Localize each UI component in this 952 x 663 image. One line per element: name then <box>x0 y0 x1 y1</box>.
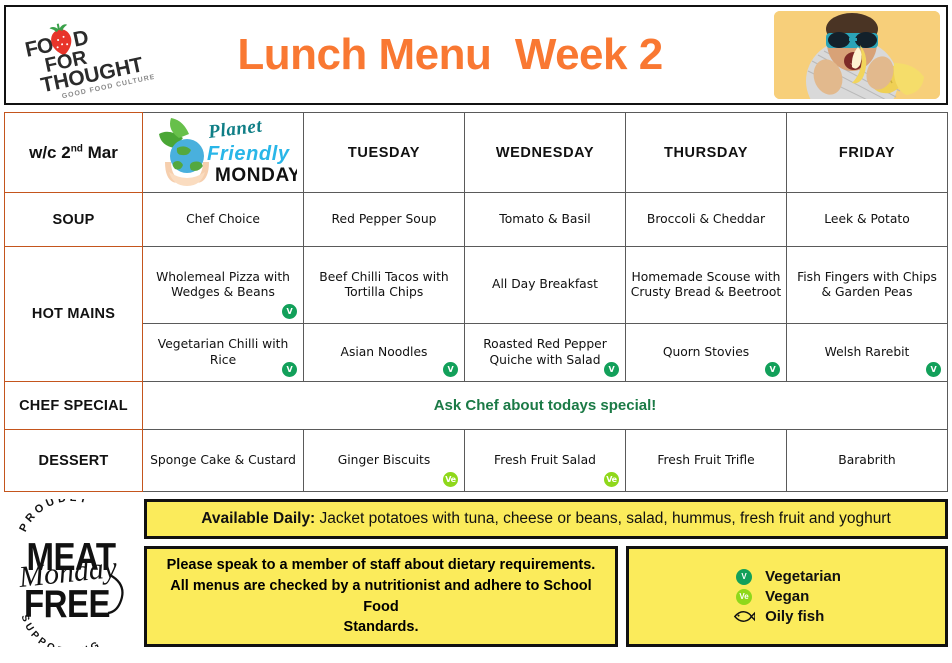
cell-mains2-friday: Welsh RarebitV <box>787 324 948 382</box>
food-for-thought-logo: F O D FOR THOUGHT GOOD FOOD CULTURE <box>6 7 156 103</box>
cell-soup-monday: Chef Choice <box>143 193 304 247</box>
available-daily-banner: Available Daily: Jacket potatoes with tu… <box>144 499 948 539</box>
table-row-dessert: DESSERT Sponge Cake & Custard Ginger Bis… <box>5 430 948 492</box>
cell-soup-thursday: Broccoli & Cheddar <box>626 193 787 247</box>
meat-free-monday-logo: PROUDLY MEAT FREE Monday SUPPORTING <box>4 499 138 647</box>
row-label-soup: SOUP <box>5 193 143 247</box>
svg-text:MONDAY: MONDAY <box>215 165 297 186</box>
vegetarian-badge-icon: V <box>733 569 755 585</box>
cell-mains2-monday: Vegetarian Chilli with RiceV <box>143 324 304 382</box>
chef-special-text: Ask Chef about todays special! <box>143 382 948 430</box>
vegetarian-badge-icon: V <box>282 304 297 319</box>
cell-dessert-monday: Sponge Cake & Custard <box>143 430 304 492</box>
day-header-thursday: THURSDAY <box>626 113 787 193</box>
cell-soup-friday: Leek & Potato <box>787 193 948 247</box>
page-title: Lunch Menu Week 2 <box>126 30 774 80</box>
table-row-soup: SOUP Chef Choice Red Pepper Soup Tomato … <box>5 193 948 247</box>
planet-friendly-monday-logo: Planet Friendly MONDAY <box>143 118 303 188</box>
cell-soup-wednesday: Tomato & Basil <box>465 193 626 247</box>
fish-icon <box>733 609 755 624</box>
legend-item-vegan: Ve Vegan <box>733 588 841 605</box>
cell-soup-tuesday: Red Pepper Soup <box>304 193 465 247</box>
svg-text:PROUDLY: PROUDLY <box>17 499 91 534</box>
row-label-dessert: DESSERT <box>5 430 143 492</box>
vegetarian-badge-icon: V <box>282 362 297 377</box>
day-header-monday: Planet Friendly MONDAY <box>143 113 304 193</box>
row-label-chef-special: CHEF SPECIAL <box>5 382 143 430</box>
cell-dessert-friday: Barabrith <box>787 430 948 492</box>
dietary-line-1: Please speak to a member of staff about … <box>157 555 605 576</box>
cell-mains2-thursday: Quorn StoviesV <box>626 324 787 382</box>
available-daily-label: Available Daily: <box>201 510 315 527</box>
cell-dessert-wednesday: Fresh Fruit SaladVe <box>465 430 626 492</box>
menu-table: w/c 2nd Mar <box>4 112 948 492</box>
header-photo <box>774 11 940 99</box>
svg-text:Planet: Planet <box>206 118 264 143</box>
cell-mains2-tuesday: Asian NoodlesV <box>304 324 465 382</box>
cell-mains1-monday: Wholemeal Pizza with Wedges & BeansV <box>143 247 304 324</box>
week-commencing-text: w/c 2 <box>29 143 71 162</box>
page-header: F O D FOR THOUGHT GOOD FOOD CULTURE <box>4 5 948 105</box>
legend-label-vegetarian: Vegetarian <box>765 568 841 585</box>
legend-label-oily-fish: Oily fish <box>765 608 824 625</box>
vegetarian-badge-icon: V <box>926 362 941 377</box>
available-daily-text: Jacket potatoes with tuna, cheese or bea… <box>315 510 891 527</box>
cell-mains1-friday: Fish Fingers with Chips & Garden Peas <box>787 247 948 324</box>
table-header-row: w/c 2nd Mar <box>5 113 948 193</box>
footer-bottom-row: Please speak to a member of staff about … <box>144 546 948 647</box>
cell-mains2-wednesday: Roasted Red Pepper Quiche with SaladV <box>465 324 626 382</box>
day-header-friday: FRIDAY <box>787 113 948 193</box>
day-header-tuesday: TUESDAY <box>304 113 465 193</box>
vegetarian-badge-icon: V <box>443 362 458 377</box>
week-commencing-month: Mar <box>83 143 118 162</box>
legend-label-vegan: Vegan <box>765 588 809 605</box>
legend-item-vegetarian: V Vegetarian <box>733 568 841 585</box>
day-header-wednesday: WEDNESDAY <box>465 113 626 193</box>
dietary-line-2: All menus are checked by a nutritionist … <box>157 576 605 617</box>
vegan-badge-icon: Ve <box>733 589 755 605</box>
svg-text:Friendly: Friendly <box>207 143 290 165</box>
vegetarian-badge-icon: V <box>765 362 780 377</box>
table-row-chef-special: CHEF SPECIAL Ask Chef about todays speci… <box>5 382 948 430</box>
cell-dessert-tuesday: Ginger BiscuitsVe <box>304 430 465 492</box>
cell-mains1-thursday: Homemade Scouse with Crusty Bread & Beet… <box>626 247 787 324</box>
table-row-hot-mains-2: Vegetarian Chilli with RiceV Asian Noodl… <box>5 324 948 382</box>
vegan-badge-icon: Ve <box>604 472 619 487</box>
cell-mains1-tuesday: Beef Chilli Tacos with Tortilla Chips <box>304 247 465 324</box>
footer-right-column: Available Daily: Jacket potatoes with tu… <box>144 499 948 647</box>
cell-dessert-thursday: Fresh Fruit Trifle <box>626 430 787 492</box>
week-commencing-cell: w/c 2nd Mar <box>5 113 143 193</box>
week-commencing-ordinal: nd <box>71 143 83 154</box>
dietary-line-3: Standards. <box>157 617 605 638</box>
menu-page: F O D FOR THOUGHT GOOD FOOD CULTURE <box>0 0 952 663</box>
table-row-hot-mains-1: HOT MAINS Wholemeal Pizza with Wedges & … <box>5 247 948 324</box>
dietary-notice-box: Please speak to a member of staff about … <box>144 546 618 647</box>
vegan-badge-icon: Ve <box>443 472 458 487</box>
legend-box: V Vegetarian Ve Vegan <box>626 546 948 647</box>
page-footer: PROUDLY MEAT FREE Monday SUPPORTING Avai… <box>4 499 948 647</box>
row-label-hot-mains: HOT MAINS <box>5 247 143 382</box>
cell-mains1-wednesday: All Day Breakfast <box>465 247 626 324</box>
legend-item-oily-fish: Oily fish <box>733 608 841 625</box>
vegetarian-badge-icon: V <box>604 362 619 377</box>
